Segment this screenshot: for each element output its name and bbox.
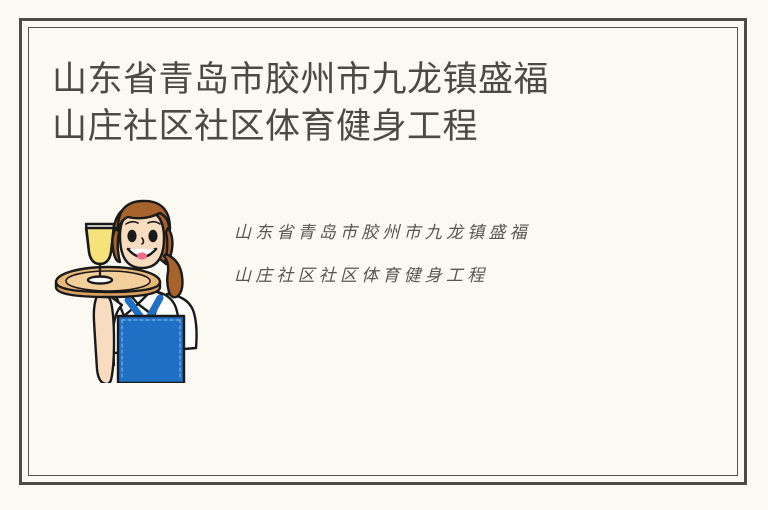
page-title-line-1: 山东省青岛市胶州市九龙镇盛福: [52, 56, 702, 103]
page-title-line-2: 山庄社区社区体育健身工程: [52, 103, 702, 150]
body-text-block: 山东省青岛市胶州市九龙镇盛福 山庄社区社区体育健身工程: [234, 212, 704, 298]
poster-page: 山东省青岛市胶州市九龙镇盛福 山庄社区社区体育健身工程: [0, 0, 768, 510]
waitress-with-tray-icon: [52, 198, 217, 383]
body-text-line-1: 山东省青岛市胶州市九龙镇盛福: [234, 212, 704, 255]
page-title: 山东省青岛市胶州市九龙镇盛福 山庄社区社区体育健身工程: [52, 56, 702, 150]
content-row: 山东省青岛市胶州市九龙镇盛福 山庄社区社区体育健身工程: [52, 198, 712, 388]
body-text-line-2: 山庄社区社区体育健身工程: [234, 255, 704, 298]
